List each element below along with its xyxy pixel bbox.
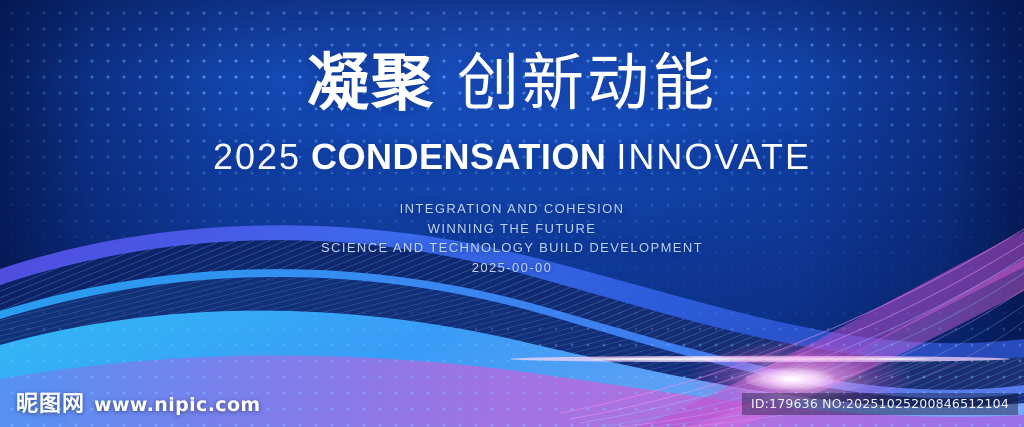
tagline-line: WINNING THE FUTURE — [0, 219, 1024, 239]
main-title-heavy: 凝聚 — [307, 46, 435, 119]
subtitle-english: 2025CONDENSATIONINNOVATE — [0, 139, 1024, 175]
subtitle-word-thin: INNOVATE — [616, 136, 811, 177]
tagline-line: INTEGRATION AND COHESION — [0, 199, 1024, 219]
watermark-logo: 昵图网 — [16, 386, 85, 418]
tagline-line: SCIENCE AND TECHNOLOGY BUILD DEVELOPMENT — [0, 238, 1024, 258]
tagline-block: INTEGRATION AND COHESION WINNING THE FUT… — [0, 199, 1024, 277]
watermark-url: www.nipic.com — [94, 394, 261, 416]
tagline-line: 2025-00-00 — [0, 258, 1024, 278]
main-title-chinese: 凝聚创新动能 — [0, 52, 1024, 115]
watermark: 昵图网 www.nipic.com — [16, 386, 261, 418]
headline-block: 凝聚创新动能 2025CONDENSATIONINNOVATE INTEGRAT… — [0, 0, 1024, 427]
poster-canvas: 凝聚创新动能 2025CONDENSATIONINNOVATE INTEGRAT… — [0, 0, 1024, 427]
main-title-light: 创新动能 — [457, 46, 717, 119]
subtitle-word-bold: CONDENSATION — [311, 136, 606, 177]
asset-id-badge: ID:179636 NO:20251025200846512104 — [742, 393, 1018, 415]
subtitle-year: 2025 — [213, 136, 301, 177]
